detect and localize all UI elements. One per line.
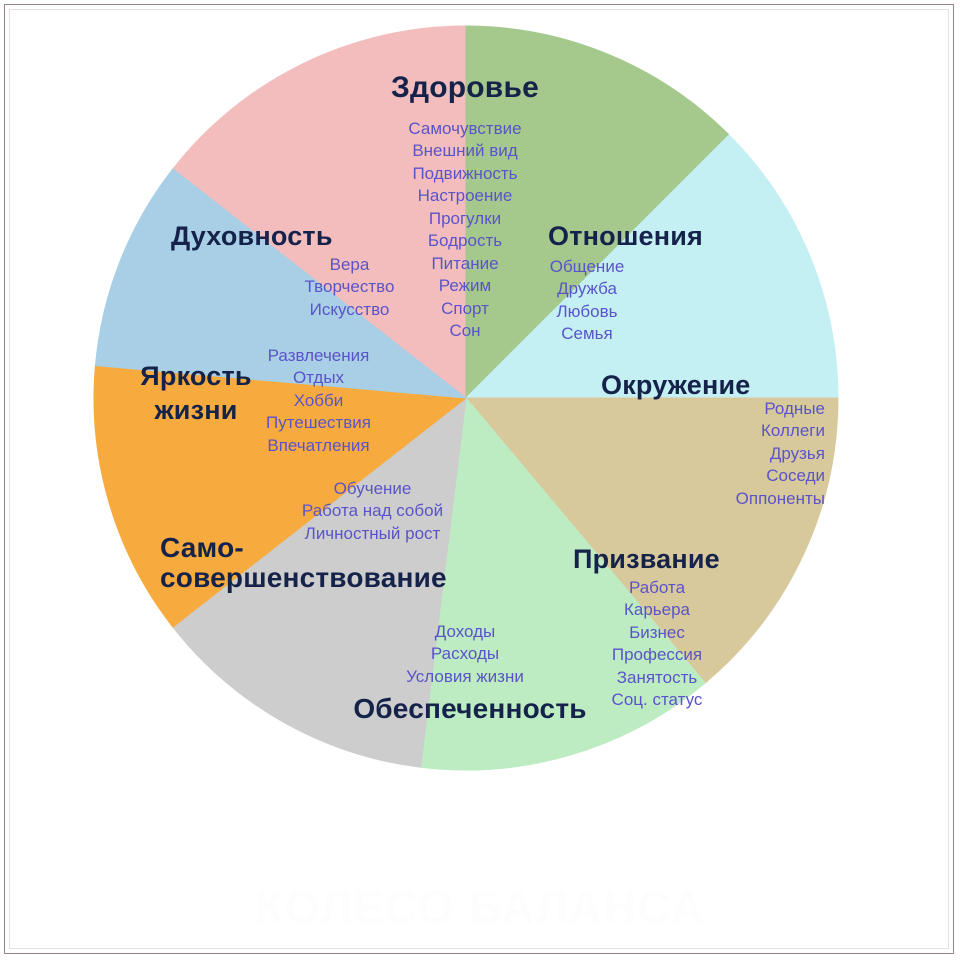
item: Отдых <box>236 367 401 389</box>
sector-title-vocation: Призвание <box>573 545 873 574</box>
item: Работа над собой <box>255 500 490 522</box>
watermark-text: КОЛЕСО БАЛАНСА <box>0 880 960 934</box>
item: Творчество <box>277 276 422 298</box>
item: Подвижность <box>285 163 645 185</box>
sector-items-vocation: Работа Карьера Бизнес Профессия Занятост… <box>572 577 742 712</box>
item: Соседи <box>620 465 825 487</box>
sector-title-health: Здоровье <box>285 72 645 104</box>
sector-items-prosperity: Доходы Расходы Условия жизни <box>345 621 585 688</box>
item: Внешний вид <box>285 140 645 162</box>
sector-items-spirituality: Вера Творчество Искусство <box>277 254 422 321</box>
item: Общение <box>498 256 676 278</box>
item: Семья <box>498 323 676 345</box>
item: Условия жизни <box>345 666 585 688</box>
item: Настроение <box>285 185 645 207</box>
title-line: совершенствование <box>160 563 500 593</box>
item: Любовь <box>498 301 676 323</box>
sector-items-environment: Родные Коллеги Друзья Соседи Оппоненты <box>620 398 825 510</box>
item: Работа <box>572 577 742 599</box>
sector-title-relationships: Отношения <box>548 222 848 251</box>
item: Самочувствие <box>285 118 645 140</box>
item: Хобби <box>236 390 401 412</box>
sector-labels-layer: Здоровье Самочувствие Внешний вид Подвиж… <box>0 0 960 960</box>
item: Доходы <box>345 621 585 643</box>
item: Коллеги <box>620 420 825 442</box>
item: Развлечения <box>236 345 401 367</box>
item: Впечатления <box>236 435 401 457</box>
item: Оппоненты <box>620 488 825 510</box>
sector-title-prosperity: Обеспеченность <box>305 694 635 724</box>
item: Родные <box>620 398 825 420</box>
item: Расходы <box>345 643 585 665</box>
item: Занятость <box>572 667 742 689</box>
item: Дружба <box>498 278 676 300</box>
item: Искусство <box>277 299 422 321</box>
item: Карьера <box>572 599 742 621</box>
item: Друзья <box>620 443 825 465</box>
wheel-of-life-image: Здоровье Самочувствие Внешний вид Подвиж… <box>0 0 960 960</box>
sector-title-self-improvement: Само- совершенствование <box>160 533 500 592</box>
item: Обучение <box>255 478 490 500</box>
sector-title-environment: Окружение <box>601 371 901 400</box>
item: Профессия <box>572 644 742 666</box>
title-line: Само- <box>160 533 500 563</box>
sector-title-spirituality: Духовность <box>171 222 471 251</box>
sector-items-relationships: Общение Дружба Любовь Семья <box>498 256 676 346</box>
item: Путешествия <box>236 412 401 434</box>
item: Вера <box>277 254 422 276</box>
item: Бизнес <box>572 622 742 644</box>
sector-items-brightness: Развлечения Отдых Хобби Путешествия Впеч… <box>236 345 401 457</box>
